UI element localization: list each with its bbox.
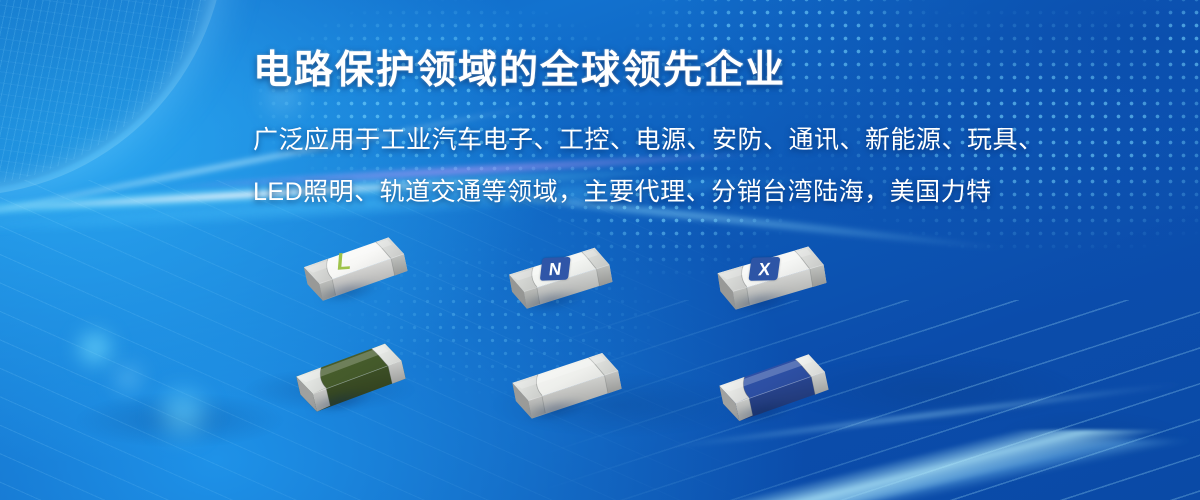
product-smd-fuse-blue-x: X xyxy=(701,242,831,316)
product-marking-x: X xyxy=(748,257,780,281)
product-showcase: L xyxy=(0,0,1200,500)
product-smd-fuse-navy-blue xyxy=(701,349,834,429)
product-smd-fuse-olive-green xyxy=(278,338,412,420)
product-smd-fuse-blank-white xyxy=(495,348,628,426)
promo-banner: 电路保护领域的全球领先企业 广泛应用于工业汽车电子、工控、电源、安防、通讯、新能… xyxy=(0,0,1200,500)
product-smd-fuse-green-l: L xyxy=(288,232,413,309)
product-marking-n: N xyxy=(540,257,571,281)
product-smd-fuse-blue-n: N xyxy=(493,242,617,315)
product-marking-l: L xyxy=(331,248,357,275)
